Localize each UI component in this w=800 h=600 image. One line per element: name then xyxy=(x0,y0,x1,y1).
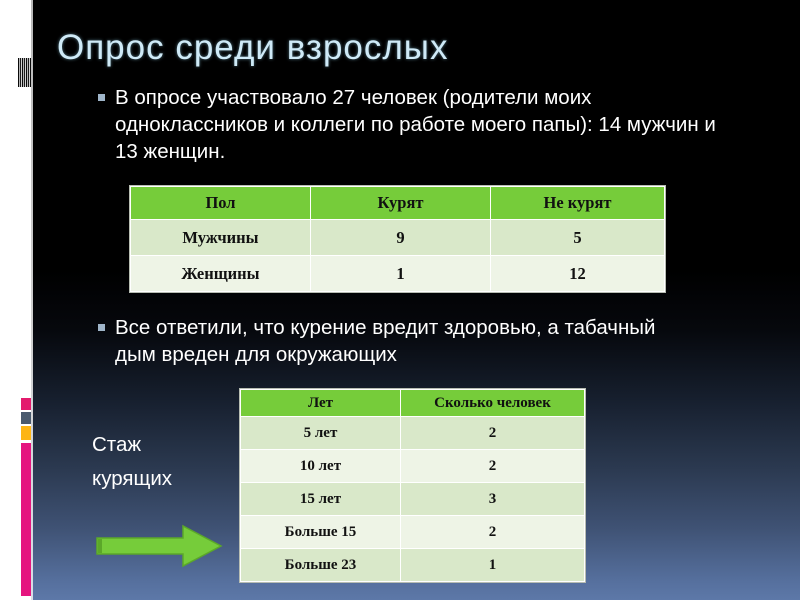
table-row: 10 лет 2 xyxy=(241,450,585,483)
cell-count-5: 2 xyxy=(401,417,585,450)
cell-count-15: 3 xyxy=(401,483,585,516)
bullet-square-icon xyxy=(98,324,105,331)
header-smokes: Курят xyxy=(311,187,491,220)
cell-men-nonsmokes: 5 xyxy=(491,220,665,256)
table-row: Женщины 1 12 xyxy=(131,256,665,292)
header-nonsmokes: Не курят xyxy=(491,187,665,220)
accent-chip-amber-icon xyxy=(21,426,31,440)
accent-chip-slate-icon xyxy=(21,412,31,424)
bullet-item-2: Все ответили, что курение вредит здоровь… xyxy=(98,314,698,368)
header-gender: Пол xyxy=(131,187,311,220)
cell-gender-men: Мужчины xyxy=(131,220,311,256)
cell-years-10: 10 лет xyxy=(241,450,401,483)
cell-count-more23: 1 xyxy=(401,549,585,582)
caption-line-2: курящих xyxy=(92,462,222,496)
header-people-count: Сколько человек xyxy=(401,390,585,417)
stripe-decoration-icon xyxy=(18,58,31,87)
arrow-right-icon xyxy=(95,524,223,568)
presentation-slide: Опрос среди взрослых В опросе участвовал… xyxy=(0,0,800,600)
bullet-text-2: Все ответили, что курение вредит здоровь… xyxy=(115,314,698,368)
page-title: Опрос среди взрослых xyxy=(57,28,757,68)
cell-years-more23: Больше 23 xyxy=(241,549,401,582)
bullet-item-1: В опросе участвовало 27 человек (родител… xyxy=(98,84,738,165)
table-row: Больше 15 2 xyxy=(241,516,585,549)
cell-women-nonsmokes: 12 xyxy=(491,256,665,292)
cell-years-5: 5 лет xyxy=(241,417,401,450)
accent-chip-magenta-icon xyxy=(21,398,31,410)
margin-edge-divider xyxy=(31,0,33,600)
table-gender-smoking: Пол Курят Не курят Мужчины 9 5 Женщины 1… xyxy=(130,186,665,292)
table-row: Мужчины 9 5 xyxy=(131,220,665,256)
cell-count-10: 2 xyxy=(401,450,585,483)
cell-men-smokes: 9 xyxy=(311,220,491,256)
table-header-row: Пол Курят Не курят xyxy=(131,187,665,220)
cell-years-more15: Больше 15 xyxy=(241,516,401,549)
accent-bar-magenta xyxy=(21,443,31,596)
table-header-row: Лет Сколько человек xyxy=(241,390,585,417)
bullet-square-icon xyxy=(98,94,105,101)
table-row: Больше 23 1 xyxy=(241,549,585,582)
cell-women-smokes: 1 xyxy=(311,256,491,292)
cell-years-15: 15 лет xyxy=(241,483,401,516)
table-smoking-years: Лет Сколько человек 5 лет 2 10 лет 2 15 … xyxy=(240,389,585,582)
bullet-text-1: В опросе участвовало 27 человек (родител… xyxy=(115,84,738,165)
header-years: Лет xyxy=(241,390,401,417)
caption-smoking-duration: Стаж курящих xyxy=(92,428,222,496)
cell-gender-women: Женщины xyxy=(131,256,311,292)
cell-count-more15: 2 xyxy=(401,516,585,549)
table-row: 5 лет 2 xyxy=(241,417,585,450)
table-row: 15 лет 3 xyxy=(241,483,585,516)
caption-line-1: Стаж xyxy=(92,428,222,462)
